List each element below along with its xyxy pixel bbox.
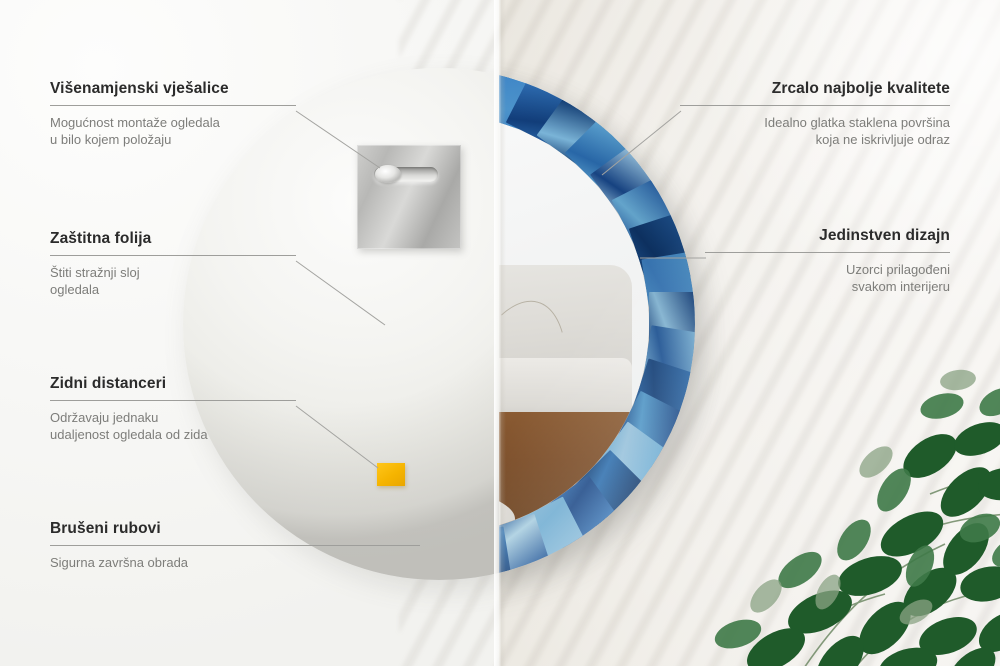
callout-hangers: Višenamjenski vješalice Mogućnost montaž… — [50, 80, 296, 148]
callout-top-quality-mirror-title: Zrcalo najbolje kvalitete — [680, 80, 950, 105]
callout-top-quality-mirror-text: Idealno glatka staklena površina koja ne… — [680, 106, 950, 148]
callout-hangers-text: Mogućnost montaže ogledala u bilo kojem … — [50, 106, 296, 148]
callout-wall-spacers-text: Održavaju jednaku udaljenost ogledala od… — [50, 401, 296, 443]
callout-polished-edges: Brušeni rubovi Sigurna završna obrada — [50, 520, 420, 571]
callout-protective-foil-text: Štiti stražnji sloj ogledala — [50, 256, 296, 298]
callout-protective-foil: Zaštitna folija Štiti stražnji sloj ogle… — [50, 230, 296, 298]
hanger-plate — [357, 145, 461, 249]
keyhole-hole — [375, 165, 401, 183]
callout-wall-spacers-title: Zidni distanceri — [50, 375, 296, 400]
wall-spacer — [377, 463, 405, 486]
infographic-canvas: Višenamjenski vješalice Mogućnost montaž… — [0, 0, 1000, 666]
callout-protective-foil-title: Zaštitna folija — [50, 230, 296, 255]
callout-polished-edges-text: Sigurna završna obrada — [50, 546, 420, 571]
callout-hangers-title: Višenamjenski vješalice — [50, 80, 296, 105]
callout-polished-edges-title: Brušeni rubovi — [50, 520, 420, 545]
callout-unique-design-text: Uzorci prilagođeni svakom interijeru — [705, 253, 950, 295]
half-split-edge — [494, 0, 506, 666]
callout-unique-design: Jedinstven dizajn Uzorci prilagođeni sva… — [705, 227, 950, 295]
callout-unique-design-title: Jedinstven dizajn — [705, 227, 950, 252]
callout-wall-spacers: Zidni distanceri Održavaju jednaku udalj… — [50, 375, 296, 443]
callout-top-quality-mirror: Zrcalo najbolje kvalitete Idealno glatka… — [680, 80, 950, 148]
